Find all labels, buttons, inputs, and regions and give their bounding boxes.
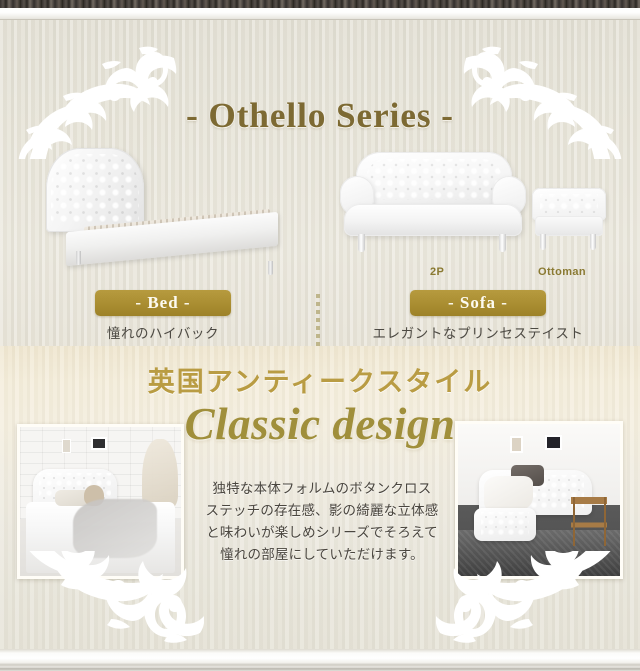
sofa-product-image xyxy=(338,152,528,262)
wall-picture-right xyxy=(545,435,562,450)
bed-leg xyxy=(268,261,273,275)
fur-throw xyxy=(484,476,533,512)
bottom-divider-band xyxy=(0,649,640,671)
sofa-seat xyxy=(344,204,522,236)
sofa-leg xyxy=(499,234,506,252)
bed-headboard xyxy=(46,148,144,232)
feature-description: 独特な本体フォルムのボタンクロス ステッチの存在感、影の綺麗な立体感 と味わいが… xyxy=(186,478,458,566)
desc-line: ステッチの存在感、影の綺麗な立体感 xyxy=(186,500,458,522)
product-row: - Bed - 憧れのハイバック 2P Ottoman xyxy=(0,136,640,346)
sofa-label-pill[interactable]: - Sofa - xyxy=(410,290,546,316)
sofa-backrest xyxy=(356,152,512,208)
tufted-ottoman xyxy=(474,508,536,541)
ottoman-leg xyxy=(540,234,546,250)
feature-jp-heading: 英国アンティークスタイル xyxy=(0,360,640,399)
wall-frame xyxy=(91,437,107,450)
bed-pill-row: - Bed - xyxy=(18,290,308,316)
ottoman-product-image xyxy=(532,188,606,262)
sofa-pill-row: - Sofa - xyxy=(330,290,626,316)
sofa-size-label: 2P xyxy=(430,266,444,278)
bed-caption: 憧れのハイバック xyxy=(18,322,308,342)
bedroom-photo xyxy=(17,424,184,579)
top-divider-band xyxy=(0,8,640,20)
wooden-side-table xyxy=(571,497,607,546)
ottoman-leg xyxy=(590,234,596,250)
wall-frame-small xyxy=(62,439,71,453)
bed-product-image xyxy=(46,144,286,272)
ottoman-label: Ottoman xyxy=(538,266,586,278)
living-room-scene xyxy=(458,424,620,576)
wall-picture-left xyxy=(510,436,523,453)
product-page: - Othello Series - - Bed - 憧れのハイバック xyxy=(0,0,640,671)
lace-throw-blanket xyxy=(73,499,157,559)
desc-line: と味わいが楽しめシリーズでそろえて xyxy=(186,522,458,544)
top-cropped-photo-strip xyxy=(0,0,640,8)
sofa-leg xyxy=(358,234,365,252)
living-room-photo xyxy=(455,421,623,579)
desc-line: 独特な本体フォルムのボタンクロス xyxy=(186,478,458,500)
desc-line: 憧れの部屋にしていただけます。 xyxy=(186,544,458,566)
bed-leg xyxy=(76,251,81,265)
bed-label-pill[interactable]: - Bed - xyxy=(95,290,231,316)
bedroom-scene xyxy=(20,427,181,576)
ottoman-body xyxy=(535,216,603,236)
sofa-caption: エレガントなプリンセステイスト xyxy=(330,322,626,342)
series-title: - Othello Series - xyxy=(0,96,640,136)
